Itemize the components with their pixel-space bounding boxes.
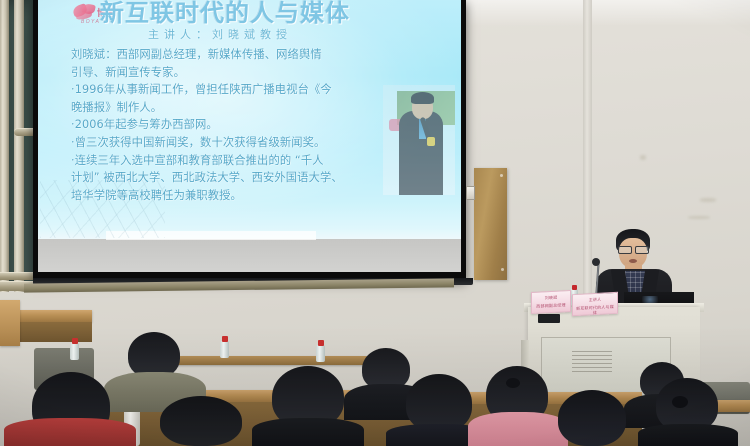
water-bottle	[316, 340, 325, 362]
water-bottle	[70, 338, 79, 360]
slide-line: 刘晓斌：西部网副总经理，新媒体传播、网络舆情	[71, 46, 371, 64]
audience-member	[160, 396, 242, 446]
monitor-glare	[642, 296, 658, 303]
chalkboard-track-mid	[14, 0, 24, 292]
lecture-hall-photo: 博雅 BOYA 新互联时代的人与媒体 主讲人：刘晓斌教授 刘晓斌：西部网副总经理…	[0, 0, 750, 446]
slide-line: 计划” 被西北大学、西北政法大学、西安外国语大学、	[71, 169, 371, 187]
audience-member	[4, 418, 136, 446]
slide-line: ·2006年起参与筹办西部网。	[71, 116, 371, 134]
wall-smudge	[688, 216, 710, 219]
slide-footer-band	[38, 239, 461, 272]
microphone-icon	[592, 258, 600, 266]
projection-screen-surface: 博雅 BOYA 新互联时代的人与媒体 主讲人：刘晓斌教授 刘晓斌：西部网副总经理…	[38, 0, 461, 272]
wall-light-switch[interactable]	[466, 186, 475, 200]
wall-seam	[583, 0, 592, 332]
slide-title: 新互联时代的人与媒体	[100, 0, 400, 27]
audience-member	[638, 424, 738, 446]
bottle-cap	[572, 285, 577, 290]
slide-line: 引导、新闻宣传专家。	[71, 64, 371, 82]
chalkboard-track-left	[0, 0, 9, 292]
wall-smudge	[640, 155, 646, 160]
slide-body-text: 刘晓斌：西部网副总经理，新媒体传播、网络舆情 引导、新闻宣传专家。 ·1996年…	[71, 46, 371, 204]
slide-line: ·曾三次获得中国新闻奖，数十次获得省级新闻奖。	[71, 134, 371, 152]
hair-bun	[672, 396, 688, 408]
nameplate: 主讲人 新互联时代的人与媒体	[572, 292, 618, 316]
nameplate-line2: 新互联时代的人与媒体	[573, 301, 617, 316]
water-bottle	[220, 336, 229, 358]
desk-end-panel	[0, 300, 20, 346]
audience-member	[468, 412, 568, 446]
slide-line: 晚播报》制作人。	[71, 99, 371, 117]
nameplate-line2: 西部网副总经理	[532, 299, 570, 309]
logo-subtext: BOYA	[81, 19, 100, 25]
slide-line: 培华学院等高校聘任为兼职教授。	[71, 187, 371, 205]
slide-subtitle: 主讲人：刘晓斌教授	[148, 28, 408, 42]
hair-tie	[506, 378, 520, 388]
audience-member	[252, 418, 364, 446]
wall-smudge	[700, 198, 716, 202]
presenter-mouth	[629, 259, 637, 263]
nameplate: 刘晓斌 西部网副总经理	[531, 290, 571, 314]
slide-line: ·连续三年入选中宣部和教育部联合推出的的 “千人	[71, 152, 371, 170]
wall-wood-panel	[474, 168, 507, 280]
slide-line: ·1996年从事新闻工作，曾担任陕西广播电视台《今	[71, 81, 371, 99]
projection-screen: 博雅 BOYA 新互联时代的人与媒体 主讲人：刘晓斌教授 刘晓斌：西部网副总经理…	[33, 0, 466, 280]
slide-speaker-portrait	[383, 85, 455, 195]
lectern-label-plate	[538, 314, 560, 323]
eyeglasses-icon	[618, 246, 648, 252]
